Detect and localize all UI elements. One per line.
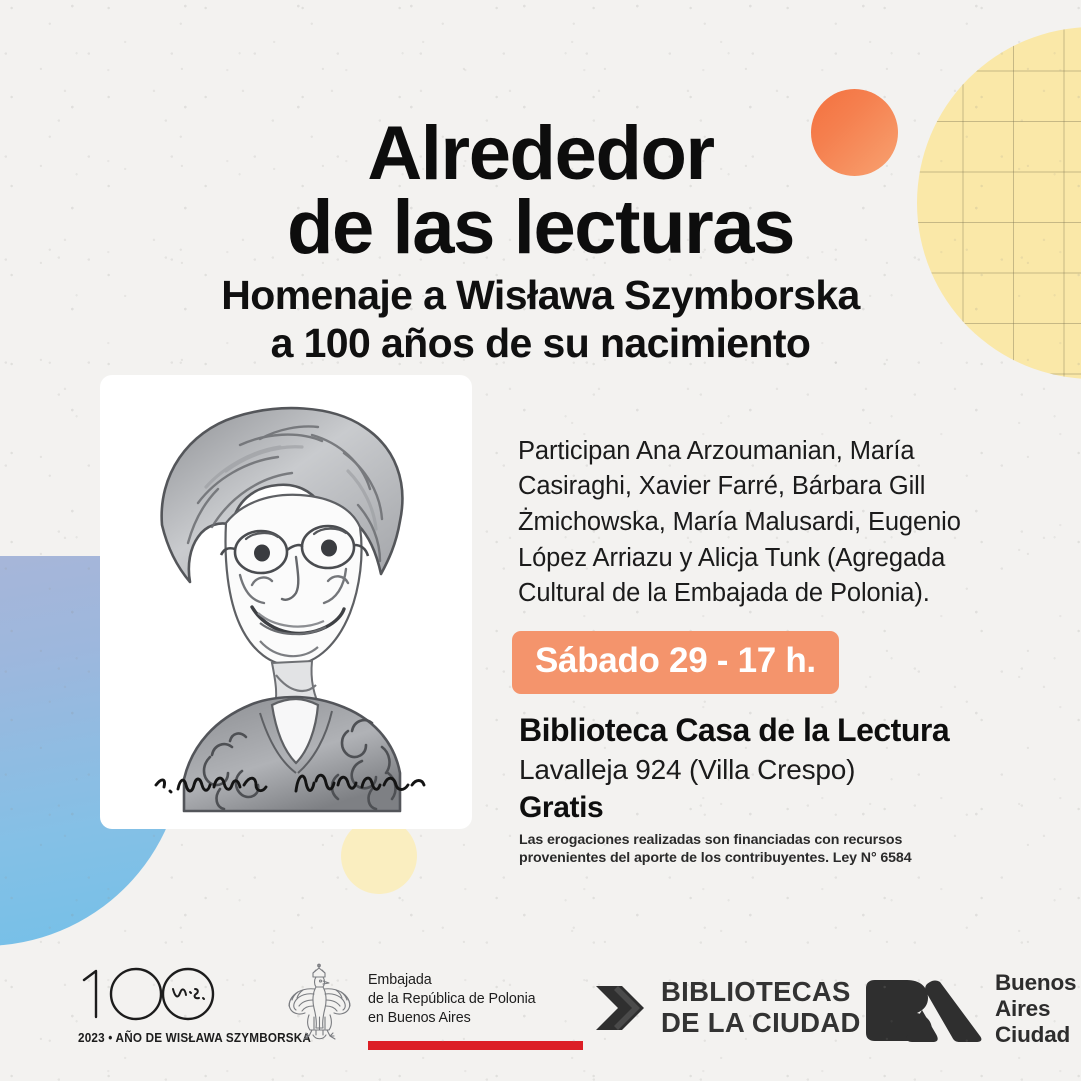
logo-buenos-aires-ciudad: Buenos Aires Ciudad xyxy=(860,970,1076,1048)
logo-100-year: 2023 xyxy=(78,1031,105,1045)
logo-100-caption-text: AÑO DE WISŁAWA SZYMBORSKA xyxy=(116,1031,312,1045)
fineprint-line-2: provenientes del aporte de los contribuy… xyxy=(519,849,949,867)
logo-embassy-of-poland: Embajada de la República de Polonia en B… xyxy=(283,962,533,1050)
embassy-line-1: Embajada xyxy=(368,971,583,990)
bibliotecas-text-block: BIBLIOTECAS DE LA CIUDAD xyxy=(661,977,861,1039)
logo-100-separator: • xyxy=(108,1031,112,1045)
legal-fineprint: Las erogaciones realizadas son financiad… xyxy=(519,831,949,867)
ba-line-3: Ciudad xyxy=(995,1022,1076,1048)
poster-canvas: Alrededor de las lecturas Homenaje a Wis… xyxy=(0,0,1081,1081)
fineprint-line-1: Las erogaciones realizadas son financiad… xyxy=(519,831,949,849)
date-badge: Sábado 29 - 17 h. xyxy=(512,631,839,694)
bibliotecas-line-2: DE LA CIUDAD xyxy=(661,1008,861,1039)
portrait-card xyxy=(100,375,472,829)
logo-bibliotecas-de-la-ciudad: BIBLIOTECAS DE LA CIUDAD xyxy=(592,977,861,1039)
embassy-text-block: Embajada de la República de Polonia en B… xyxy=(368,962,583,1050)
polish-flag-red-bar xyxy=(368,1041,583,1050)
subtitle-line-1: Homenaje a Wisława Szymborska xyxy=(0,271,1081,319)
participants-text: Participan Ana Arzoumanian, María Casira… xyxy=(518,434,988,612)
venue-price: Gratis xyxy=(519,790,1019,826)
title-line-1: Alrededor xyxy=(0,117,1081,191)
page-title: Alrededor de las lecturas xyxy=(0,117,1081,264)
embassy-line-3: en Buenos Aires xyxy=(368,1009,583,1028)
venue-address: Lavalleja 924 (Villa Crespo) xyxy=(519,752,1019,789)
title-line-2: de las lecturas xyxy=(0,191,1081,265)
page-subtitle: Homenaje a Wisława Szymborska a 100 años… xyxy=(0,271,1081,368)
bibliotecas-line-1: BIBLIOTECAS xyxy=(661,977,861,1008)
subtitle-line-2: a 100 años de su nacimiento xyxy=(0,319,1081,367)
venue-info: Biblioteca Casa de la Lectura Lavalleja … xyxy=(519,710,1019,826)
small-yellow-circle-decoration xyxy=(341,818,417,894)
polish-eagle-icon xyxy=(283,962,355,1048)
ba-text-block: Buenos Aires Ciudad xyxy=(995,970,1076,1048)
logo-100-caption: 2023 • AÑO DE WISŁAWA SZYMBORSKA xyxy=(78,1031,277,1045)
venue-name: Biblioteca Casa de la Lectura xyxy=(519,710,1019,750)
ba-line-2: Aires xyxy=(995,996,1076,1022)
ba-monogram-icon xyxy=(860,974,986,1044)
embassy-line-2: de la República de Polonia xyxy=(368,990,583,1009)
szymborska-portrait-illustration xyxy=(100,375,472,829)
book-arrow-icon xyxy=(592,980,646,1036)
ba-line-1: Buenos xyxy=(995,970,1076,996)
hundred-mark-icon xyxy=(72,961,232,1023)
logo-100-years-szymborska: 2023 • AÑO DE WISŁAWA SZYMBORSKA xyxy=(72,961,292,1045)
